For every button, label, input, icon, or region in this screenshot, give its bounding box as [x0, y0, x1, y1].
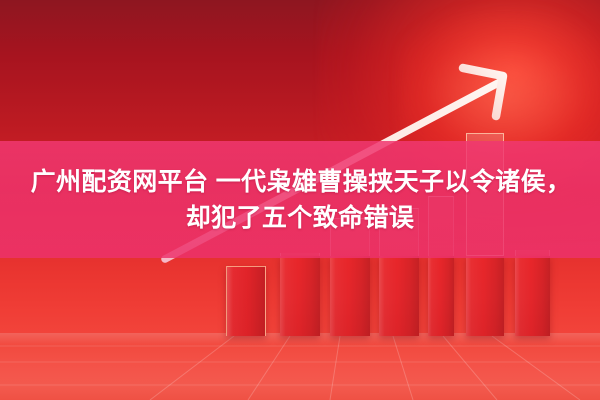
headline-line-2: 却犯了五个致命错误: [186, 204, 415, 232]
headline-line-1: 广州配资网平台 一代枭雄曹操挟天子以令诸侯，: [29, 168, 572, 196]
headline-text: 广州配资网平台 一代枭雄曹操挟天子以令诸侯， 却犯了五个致命错误: [0, 141, 600, 258]
banner-image: 广州配资网平台 一代枭雄曹操挟天子以令诸侯， 却犯了五个致命错误: [0, 0, 600, 400]
